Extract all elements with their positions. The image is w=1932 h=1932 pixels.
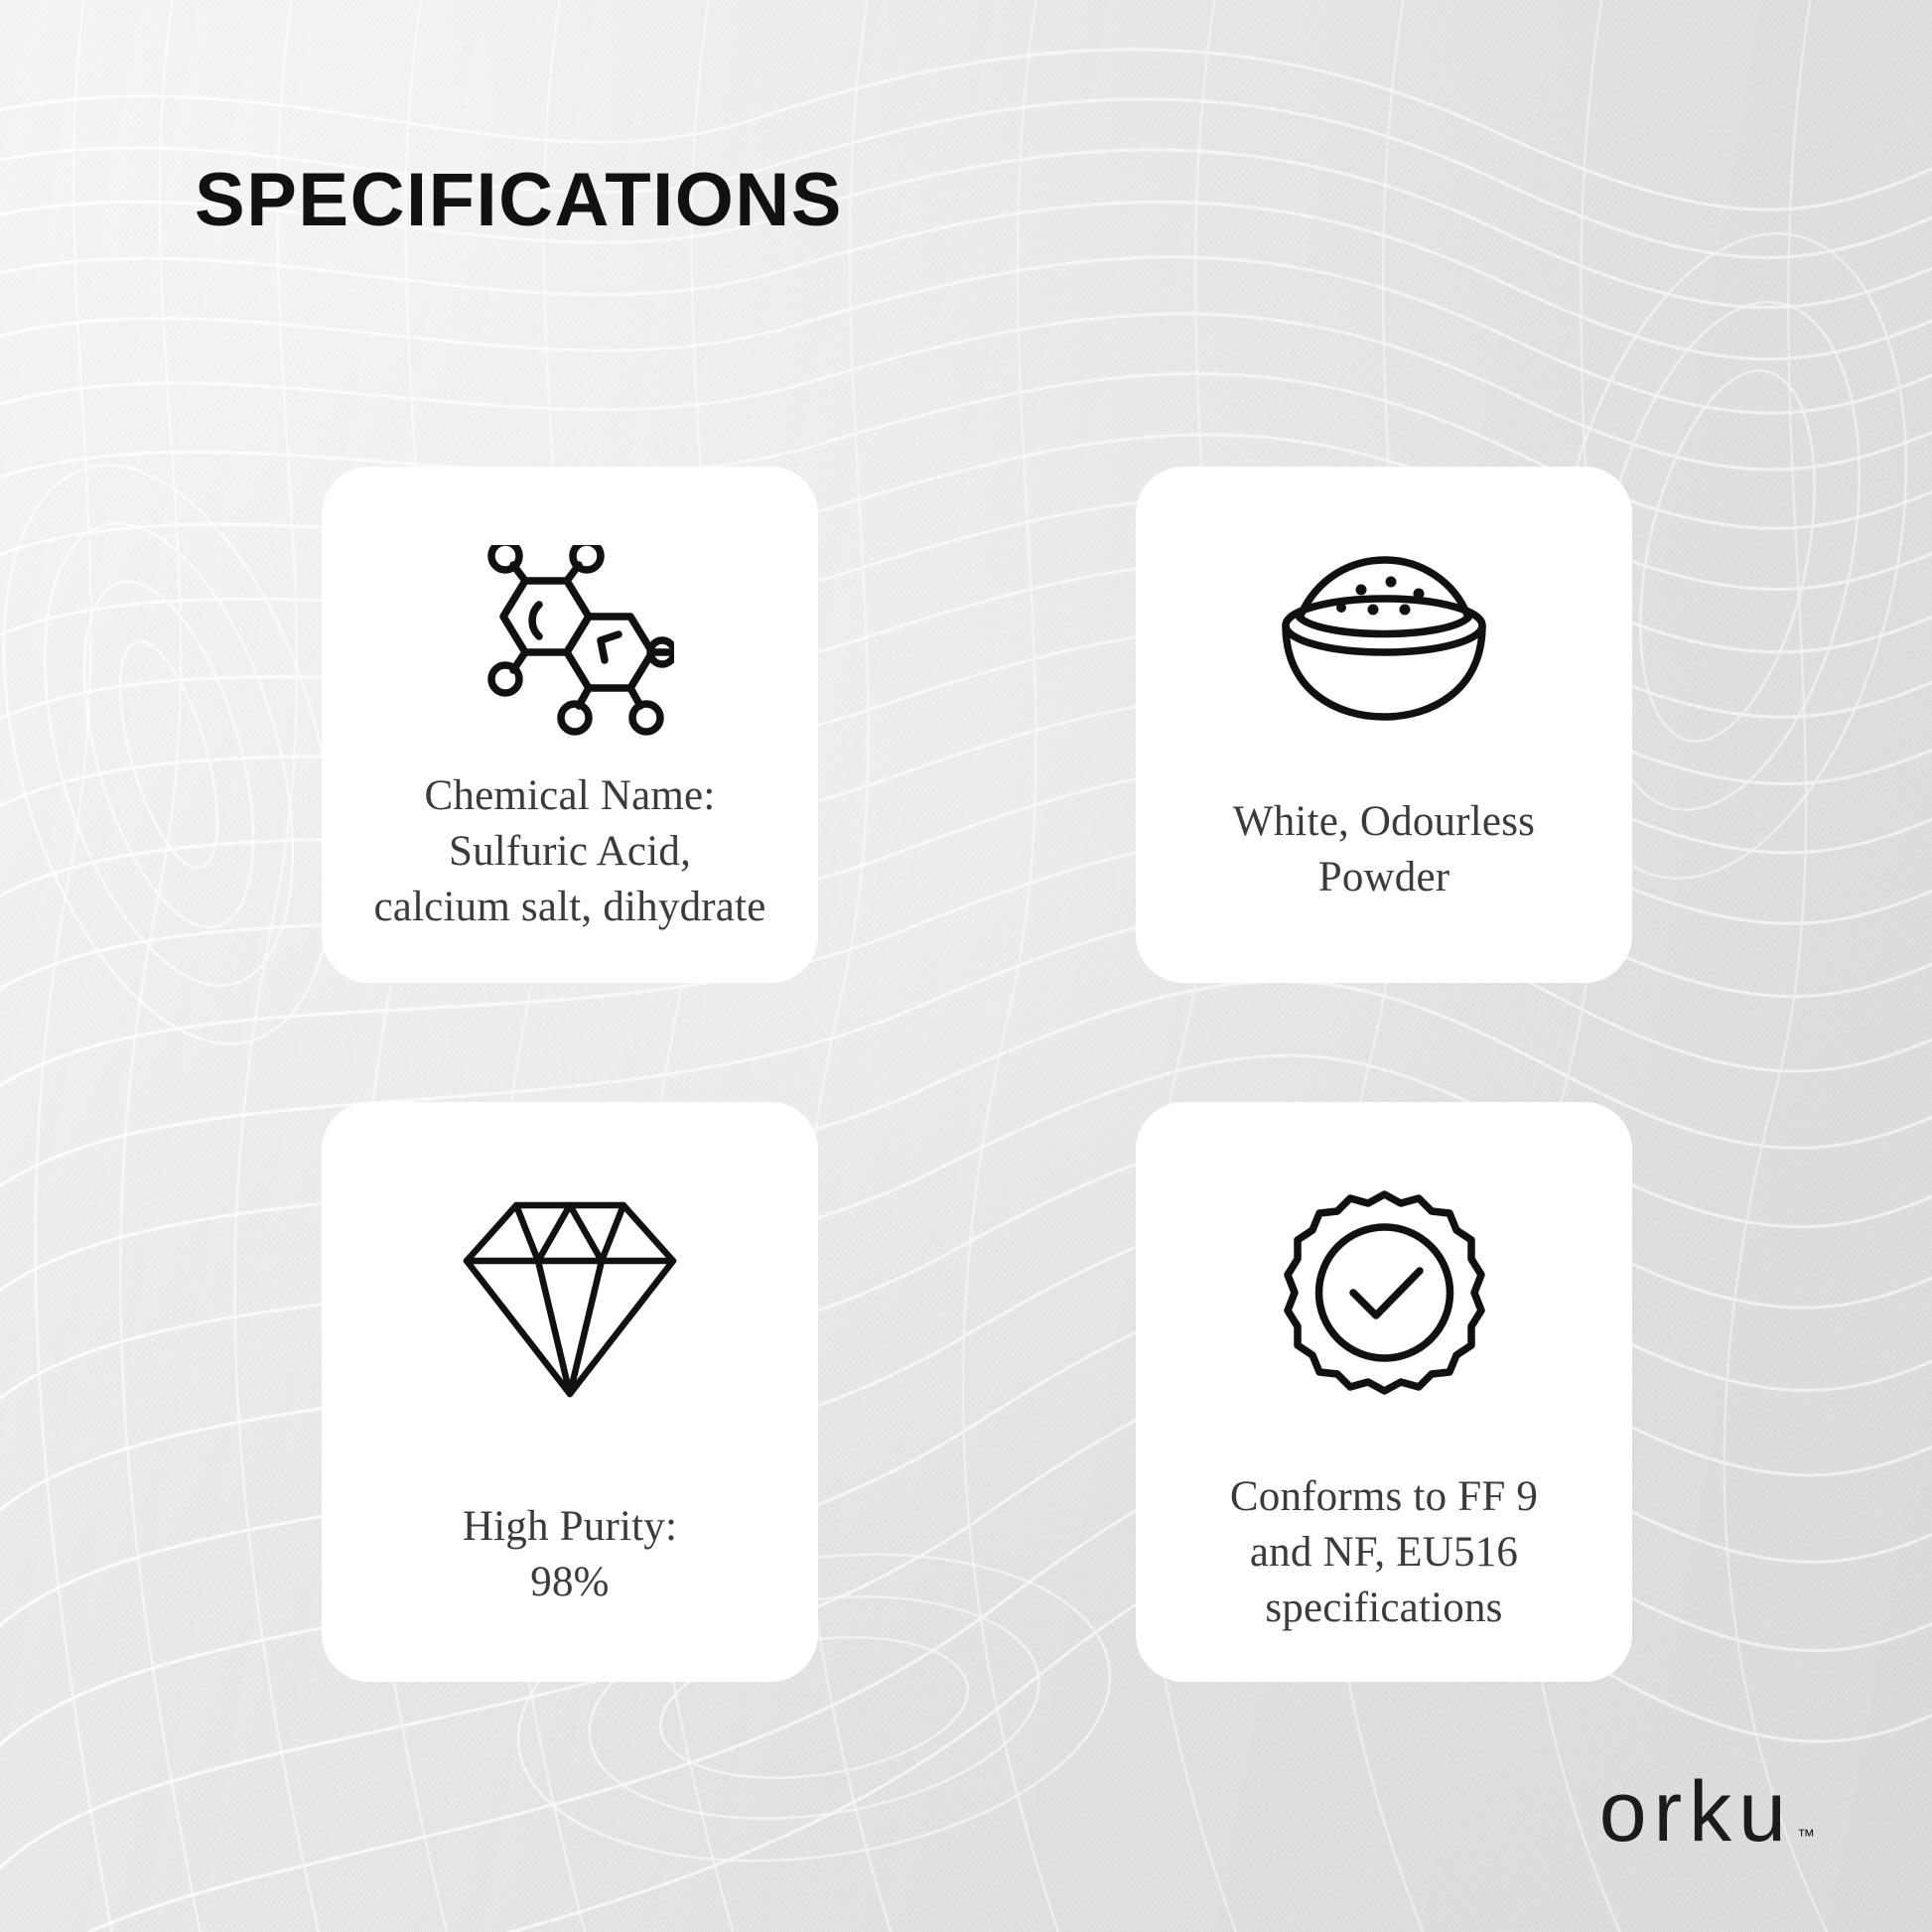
spec-card-chemical-name-text: Chemical Name: Sulfuric Acid, calcium sa… [373,768,765,935]
brand-logo-wordmark: orku [1599,1769,1793,1855]
specifications-infographic: SPECIFICATIONS [0,0,1932,1932]
specifications-grid: Chemical Name: Sulfuric Acid, calcium sa… [322,467,1632,1682]
spec-card-appearance: White, Odourless Powder [1136,467,1632,983]
spec-line: 98% [463,1555,677,1610]
spec-card-chemical-name: Chemical Name: Sulfuric Acid, calcium sa… [322,467,818,983]
spec-line: Sulfuric Acid, [373,824,765,880]
page-title: SPECIFICATIONS [195,157,843,243]
spec-line: and NF, EU516 [1230,1525,1538,1581]
spec-line: White, Odourless [1233,794,1535,850]
spec-card-conformance-text: Conforms to FF 9 and NF, EU516 specifica… [1230,1469,1538,1636]
spec-line: calcium salt, dihydrate [373,880,765,935]
brand-logo: orku ™ [1599,1769,1815,1855]
diamond-icon [461,1175,679,1424]
spec-line: specifications [1230,1581,1538,1636]
powder-bowl-icon [1270,522,1498,751]
spec-card-purity: High Purity: 98% [322,1102,818,1682]
spec-line: Chemical Name: [373,768,765,824]
spec-card-purity-text: High Purity: 98% [463,1499,677,1610]
trademark-symbol: ™ [1797,1827,1815,1845]
spec-line: Powder [1233,850,1535,905]
spec-line: Conforms to FF 9 [1230,1469,1538,1525]
spec-card-appearance-text: White, Odourless Powder [1233,794,1535,905]
certified-badge-icon [1278,1172,1491,1420]
spec-line: High Purity: [463,1499,677,1555]
spec-card-conformance: Conforms to FF 9 and NF, EU516 specifica… [1136,1102,1632,1682]
molecule-icon [466,530,674,759]
